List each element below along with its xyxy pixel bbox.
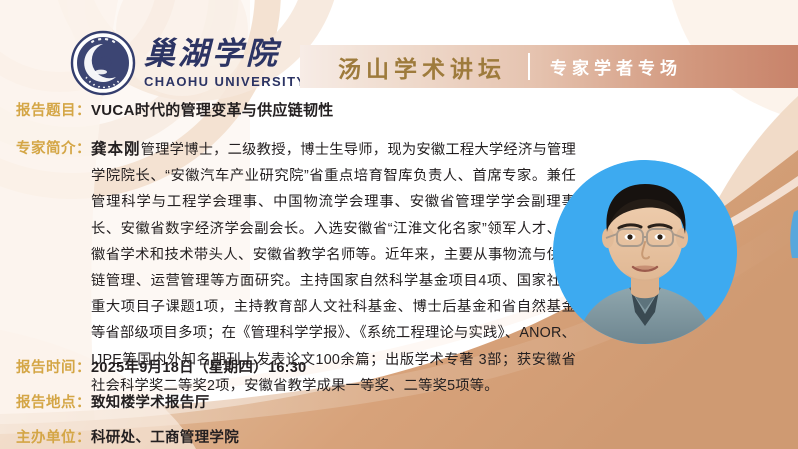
- banner-divider: [528, 53, 530, 80]
- speaker-bio-label: 专家简介：: [16, 137, 91, 158]
- chaohu-university-seal-icon: [70, 30, 136, 96]
- report-time-label: 报告时间：: [16, 356, 91, 377]
- banner-main-title: 汤山学术讲坛: [338, 50, 506, 84]
- report-place-value: 致知楼学术报告厅: [91, 391, 209, 412]
- report-time-row: 报告时间： 2025年9月18日（星期四）16:30: [16, 356, 307, 377]
- university-name-block: 巢湖学院 CHAOHU UNIVERSITY: [144, 39, 306, 88]
- report-host-value: 科研处、工商管理学院: [91, 426, 239, 447]
- seal-emblem-svg: [70, 30, 136, 96]
- seminar-poster: 巢湖学院 CHAOHU UNIVERSITY 汤山学术讲坛 专家学者专场 报告题…: [0, 0, 798, 449]
- speaker-name: 龚本刚: [91, 141, 141, 158]
- report-title-row: 报告题目： VUCA时代的管理变革与供应链韧性: [16, 99, 334, 120]
- university-name-cn: 巢湖学院: [144, 39, 306, 70]
- report-time-value: 2025年9月18日（星期四）16:30: [91, 356, 307, 377]
- report-title-label: 报告题目：: [16, 99, 91, 120]
- report-host-row: 主办单位： 科研处、工商管理学院: [16, 426, 239, 447]
- report-place-row: 报告地点： 致知楼学术报告厅: [16, 391, 209, 412]
- banner-subtitle: 专家学者专场: [550, 54, 682, 79]
- university-logo-block: 巢湖学院 CHAOHU UNIVERSITY: [70, 30, 306, 96]
- series-banner: 汤山学术讲坛 专家学者专场: [300, 45, 798, 88]
- report-host-label: 主办单位：: [16, 426, 91, 447]
- speaker-portrait: [553, 160, 737, 344]
- poster-header: 巢湖学院 CHAOHU UNIVERSITY 汤山学术讲坛 专家学者专场: [0, 0, 798, 92]
- report-place-label: 报告地点：: [16, 391, 91, 412]
- university-name-en: CHAOHU UNIVERSITY: [144, 75, 306, 88]
- speaker-portrait-illustration: [553, 160, 737, 344]
- report-title-value: VUCA时代的管理变革与供应链韧性: [91, 99, 334, 120]
